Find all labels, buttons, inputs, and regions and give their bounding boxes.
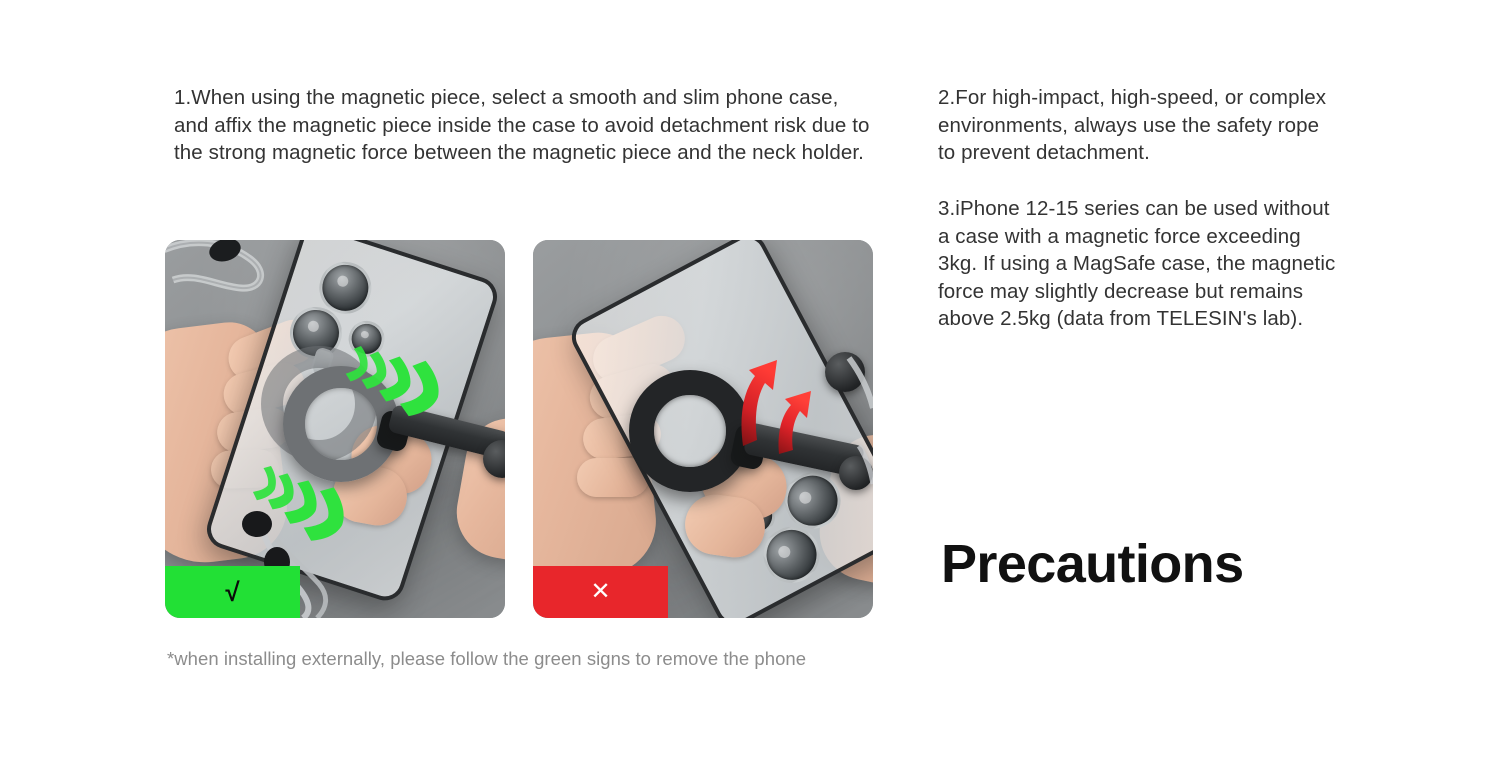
status-badge-correct: √ [165, 566, 300, 618]
precautions-infographic: 1.When using the magnetic piece, select … [0, 0, 1500, 769]
green-direction-arrows [165, 240, 505, 618]
photo-correct-method: √ [165, 240, 505, 618]
note-2-text: 2.For high-impact, high-speed, or comple… [938, 84, 1338, 167]
page-title: Precautions [941, 533, 1244, 595]
note-1-text: 1.When using the magnetic piece, select … [174, 84, 874, 167]
red-arrow-short [779, 391, 812, 454]
check-mark-icon: √ [225, 579, 239, 605]
red-arrow-tall [742, 360, 778, 446]
status-badge-incorrect: ✕ [533, 566, 668, 618]
note-3-text: 3.iPhone 12-15 series can be used withou… [938, 195, 1338, 333]
photo-incorrect-method: ✕ [533, 240, 873, 618]
footnote-text: *when installing externally, please foll… [167, 647, 927, 671]
red-direction-arrows [533, 240, 873, 618]
cross-mark-icon: ✕ [590, 580, 610, 604]
